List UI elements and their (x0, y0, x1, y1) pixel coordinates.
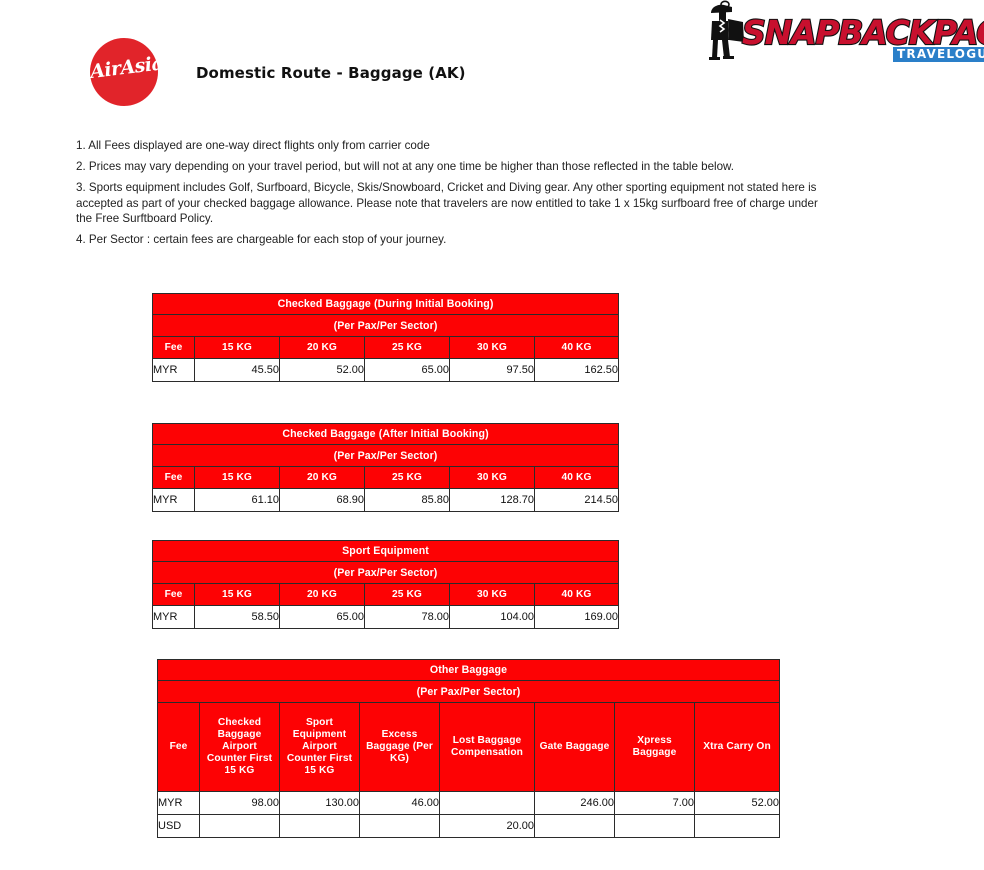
row-currency-label: USD (158, 815, 200, 838)
column-header-15kg: 15 KG (195, 584, 280, 606)
column-header-20kg: 20 KG (280, 584, 365, 606)
row-currency-label: MYR (153, 359, 195, 382)
table-other-baggage: Other Baggage (Per Pax/Per Sector) Fee C… (157, 659, 780, 838)
cell-value (360, 815, 440, 838)
column-header-25kg: 25 KG (365, 337, 450, 359)
cell-value (535, 815, 615, 838)
table-row: MYR 98.00 130.00 46.00 246.00 7.00 52.00 (158, 792, 780, 815)
cell-value: 52.00 (695, 792, 780, 815)
table-subtitle: (Per Pax/Per Sector) (153, 445, 619, 467)
cell-value: 45.50 (195, 359, 280, 382)
table-subtitle-row: (Per Pax/Per Sector) (153, 562, 619, 584)
table-row: MYR 61.10 68.90 85.80 128.70 214.50 (153, 489, 619, 512)
table-subtitle: (Per Pax/Per Sector) (153, 562, 619, 584)
cell-value (440, 792, 535, 815)
note-item: 1. All Fees displayed are one-way direct… (76, 138, 836, 153)
table-subtitle: (Per Pax/Per Sector) (158, 681, 780, 703)
note-item: 4. Per Sector : certain fees are chargea… (76, 232, 836, 247)
table-title: Checked Baggage (After Initial Booking) (153, 424, 619, 445)
column-header-40kg: 40 KG (535, 467, 619, 489)
column-header-sport-equipment-airport-counter-first-15kg: Sport Equipment Airport Counter First 15… (280, 703, 360, 792)
cell-value: 46.00 (360, 792, 440, 815)
column-header-25kg: 25 KG (365, 467, 450, 489)
column-header-25kg: 25 KG (365, 584, 450, 606)
cell-value (615, 815, 695, 838)
table-row: USD 20.00 (158, 815, 780, 838)
cell-value: 65.00 (280, 606, 365, 629)
table-header-row: Fee 15 KG 20 KG 25 KG 30 KG 40 KG (153, 467, 619, 489)
column-header-gate-baggage: Gate Baggage (535, 703, 615, 792)
table-title: Other Baggage (158, 660, 780, 681)
column-header-30kg: 30 KG (450, 467, 535, 489)
cell-value: 246.00 (535, 792, 615, 815)
table-row: MYR 58.50 65.00 78.00 104.00 169.00 (153, 606, 619, 629)
column-header-40kg: 40 KG (535, 337, 619, 359)
column-header-checked-baggage-airport-counter-first-15kg: Checked Baggage Airport Counter First 15… (200, 703, 280, 792)
page-title: Domestic Route - Baggage (AK) (196, 64, 466, 82)
cell-value: 169.00 (535, 606, 619, 629)
cell-value: 68.90 (280, 489, 365, 512)
cell-value: 65.00 (365, 359, 450, 382)
column-header-fee: Fee (153, 584, 195, 606)
row-currency-label: MYR (153, 606, 195, 629)
note-item: 3. Sports equipment includes Golf, Surfb… (76, 180, 836, 226)
cell-value: 214.50 (535, 489, 619, 512)
cell-value: 78.00 (365, 606, 450, 629)
table-subtitle-row: (Per Pax/Per Sector) (153, 315, 619, 337)
table-title-row: Sport Equipment (153, 541, 619, 562)
table-title-row: Checked Baggage (During Initial Booking) (153, 294, 619, 315)
cell-value: 97.50 (450, 359, 535, 382)
table-header-row: Fee Checked Baggage Airport Counter Firs… (158, 703, 780, 792)
cell-value (280, 815, 360, 838)
cell-value (200, 815, 280, 838)
row-currency-label: MYR (153, 489, 195, 512)
cell-value: 98.00 (200, 792, 280, 815)
column-header-40kg: 40 KG (535, 584, 619, 606)
cell-value: 61.10 (195, 489, 280, 512)
table-subtitle-row: (Per Pax/Per Sector) (153, 445, 619, 467)
airasia-logo: AirAsia (90, 38, 158, 106)
notes-list: 1. All Fees displayed are one-way direct… (76, 138, 836, 247)
table-checked-baggage-during-initial-booking: Checked Baggage (During Initial Booking)… (152, 293, 619, 382)
cell-value: 85.80 (365, 489, 450, 512)
brand-wordmark: SNAPBACKPACKER (742, 16, 984, 49)
row-currency-label: MYR (158, 792, 200, 815)
brand-sublabel: TRAVELOGUE (893, 47, 984, 62)
column-header-fee: Fee (158, 703, 200, 792)
airasia-logo-text: AirAsia (89, 53, 159, 83)
cell-value: 162.50 (535, 359, 619, 382)
column-header-30kg: 30 KG (450, 584, 535, 606)
column-header-excess-baggage-per-kg: Excess Baggage (Per KG) (360, 703, 440, 792)
column-header-fee: Fee (153, 337, 195, 359)
table-subtitle: (Per Pax/Per Sector) (153, 315, 619, 337)
column-header-20kg: 20 KG (280, 337, 365, 359)
note-item: 2. Prices may vary depending on your tra… (76, 159, 836, 174)
cell-value (695, 815, 780, 838)
table-header-row: Fee 15 KG 20 KG 25 KG 30 KG 40 KG (153, 584, 619, 606)
table-title: Checked Baggage (During Initial Booking) (153, 294, 619, 315)
table-row: MYR 45.50 52.00 65.00 97.50 162.50 (153, 359, 619, 382)
column-header-30kg: 30 KG (450, 337, 535, 359)
column-header-lost-baggage-compensation: Lost Baggage Compensation (440, 703, 535, 792)
table-checked-baggage-after-initial-booking: Checked Baggage (After Initial Booking) … (152, 423, 619, 512)
cell-value: 128.70 (450, 489, 535, 512)
column-header-20kg: 20 KG (280, 467, 365, 489)
table-title: Sport Equipment (153, 541, 619, 562)
table-subtitle-row: (Per Pax/Per Sector) (158, 681, 780, 703)
table-title-row: Other Baggage (158, 660, 780, 681)
cell-value: 58.50 (195, 606, 280, 629)
cell-value: 52.00 (280, 359, 365, 382)
table-header-row: Fee 15 KG 20 KG 25 KG 30 KG 40 KG (153, 337, 619, 359)
table-title-row: Checked Baggage (After Initial Booking) (153, 424, 619, 445)
cell-value: 130.00 (280, 792, 360, 815)
cell-value: 104.00 (450, 606, 535, 629)
cell-value: 20.00 (440, 815, 535, 838)
column-header-15kg: 15 KG (195, 337, 280, 359)
column-header-15kg: 15 KG (195, 467, 280, 489)
cell-value: 7.00 (615, 792, 695, 815)
column-header-fee: Fee (153, 467, 195, 489)
table-sport-equipment: Sport Equipment (Per Pax/Per Sector) Fee… (152, 540, 619, 629)
column-header-xpress-baggage: Xpress Baggage (615, 703, 695, 792)
column-header-xtra-carry-on: Xtra Carry On (695, 703, 780, 792)
